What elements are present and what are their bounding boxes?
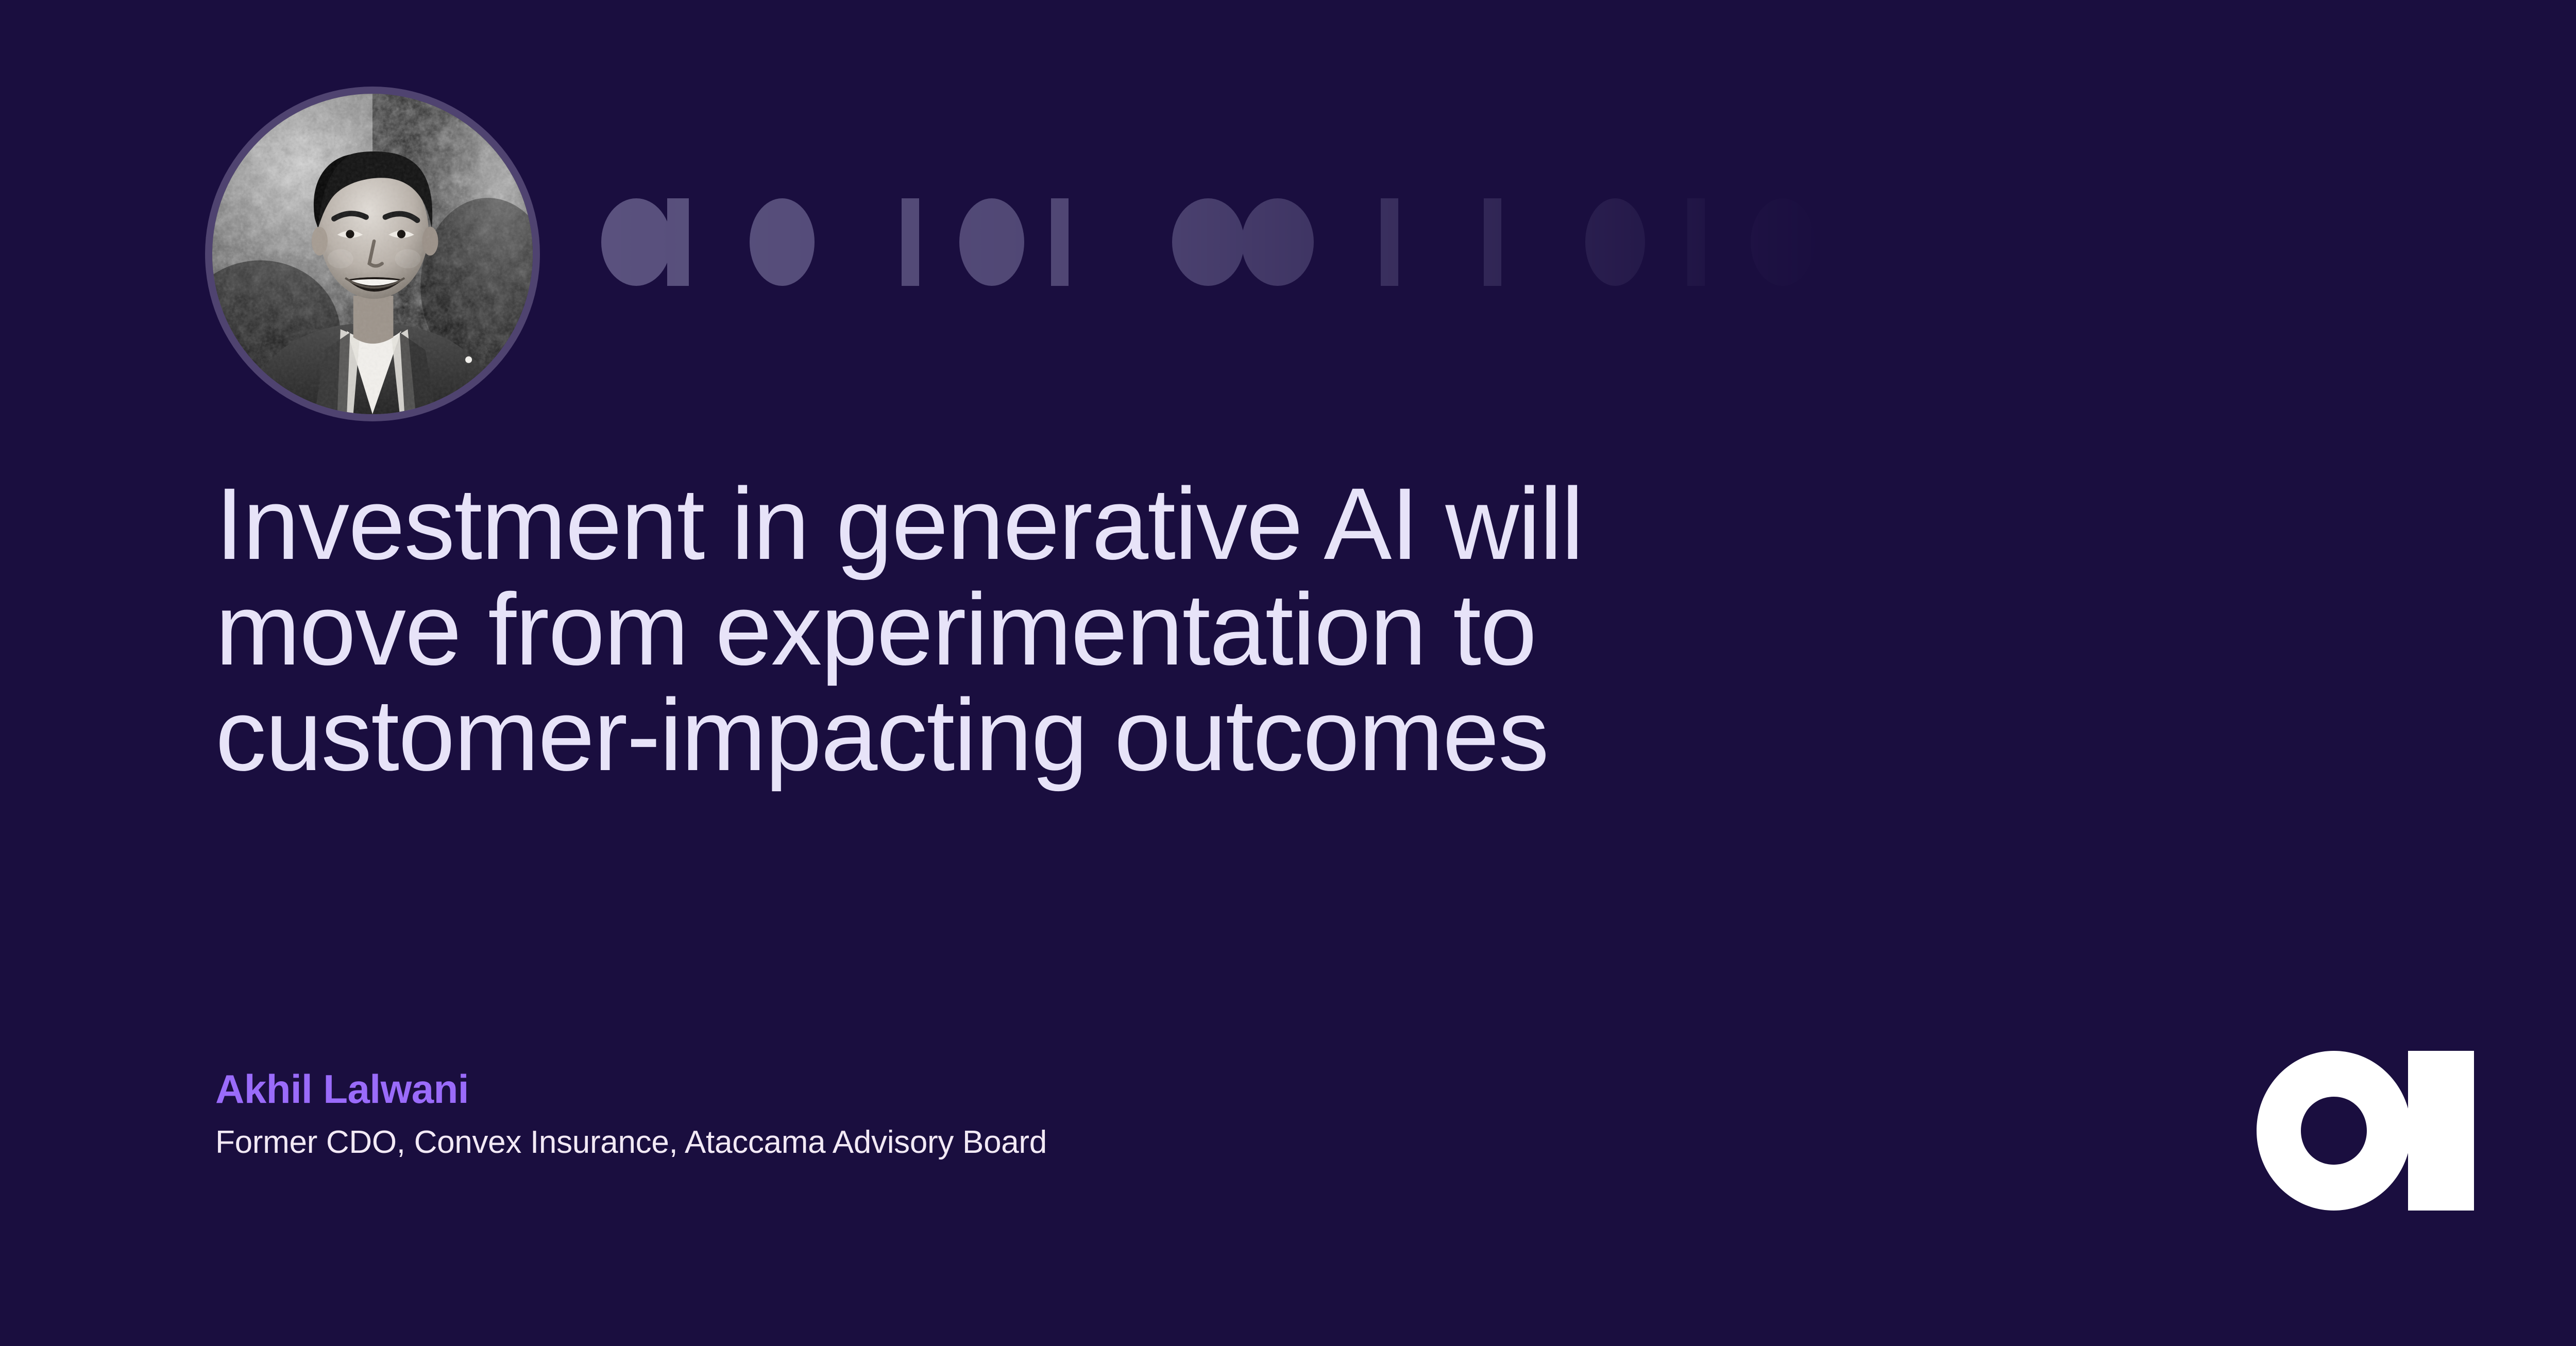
- avatar-photo: [212, 94, 533, 414]
- ataccama-glyph-pattern: [592, 183, 1829, 301]
- quote-text: Investment in generative AI will move fr…: [215, 471, 2328, 788]
- ataccama-logo: [2256, 1047, 2480, 1246]
- quote-card: Investment in generative AI will move fr…: [0, 0, 2576, 1346]
- speaker-name: Akhil Lalwani: [215, 1069, 2070, 1109]
- attribution: Akhil Lalwani Former CDO, Convex Insuran…: [215, 1069, 2070, 1158]
- avatar: [205, 87, 540, 421]
- speaker-role: Former CDO, Convex Insurance, Ataccama A…: [215, 1127, 2070, 1158]
